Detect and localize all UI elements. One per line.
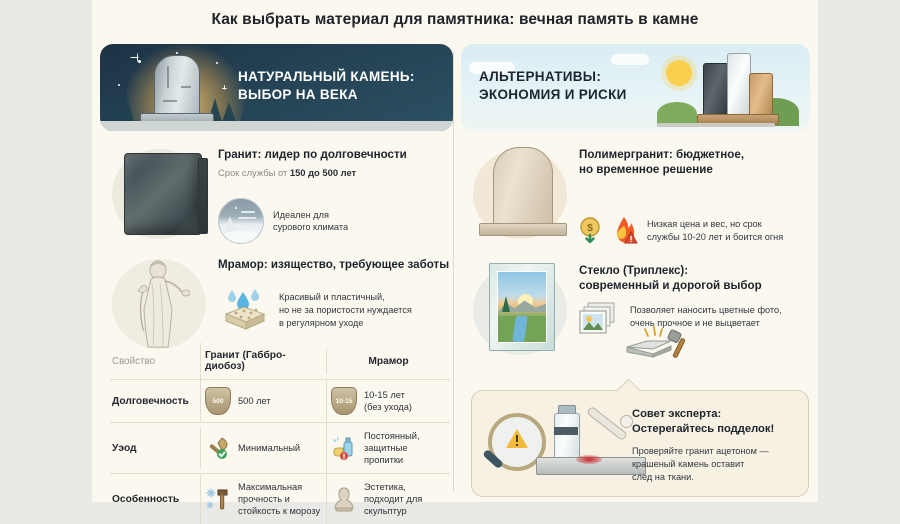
cell-value: Эстетика, подходит для скульптур: [364, 481, 422, 517]
expert-tip-box: Совет эксперта: Остерегайтесь подделок! …: [471, 390, 809, 497]
banner-title-line1: НАТУРАЛЬНЫЙ КАМЕНЬ:: [238, 69, 415, 84]
polymer-note: $ Низкая цена и вес: [579, 216, 811, 246]
monument-slab-light: [727, 53, 751, 117]
bust-sculpture-icon: [331, 486, 357, 512]
row-marble-cell: 10-15 10-15 лет (без ухода): [326, 380, 450, 422]
star-icon: [176, 52, 178, 54]
star-icon: [118, 84, 120, 86]
bottle-label: [554, 427, 578, 435]
table-row: Уэод Минимальный: [110, 422, 450, 473]
landscape-photo: [497, 271, 547, 343]
glass-photo-panel-icon: [489, 263, 555, 351]
granite-lifespan: Срок службы от 150 до 500 лет: [218, 167, 450, 178]
star-icon: [216, 62, 218, 64]
pine-tree-icon: [222, 102, 236, 122]
acetone-bottle-swab-icon: [554, 413, 580, 461]
row-granite-cell: Максимальная прочность и стойкость к мор…: [200, 474, 326, 524]
cell-value: 500 лет: [238, 395, 271, 407]
table-header-row: Свойство Гранит (Габбро-диобоз) Мрамор: [110, 343, 450, 379]
svg-text:$: $: [587, 223, 593, 234]
marble-statue-icon: [132, 257, 190, 349]
row-marble-cell: Эстетика, подходит для скульптур: [326, 474, 450, 524]
lifespan-prefix: Срок службы от: [218, 167, 290, 178]
alternatives-banner: АЛЬТЕРНАТИВЫ: ЭКОНОМИЯ И РИСКИ: [461, 44, 810, 131]
brush-check-icon: [205, 435, 231, 461]
cell-value: Максимальная прочность и стойкость к мор…: [238, 481, 320, 517]
polymer-note-text: Низкая цена и вес, но срок службы 10-20 …: [647, 218, 783, 243]
monument-slab-brown: [749, 73, 773, 117]
marble-heading: Мрамор: изящество, требующее заботы: [218, 257, 450, 272]
table-row: Долговечность 500 500 лет 10-15 10-15 ле…: [110, 379, 450, 422]
polymer-text: Полимергранит: бюджетное, но временное р…: [579, 147, 811, 246]
row-label: Долговечность: [110, 389, 200, 414]
water-drops-porous-slab-icon: [218, 286, 270, 330]
table-header-property: Свойство: [110, 349, 200, 374]
pine-tree-icon: [106, 102, 120, 122]
glass-heading: Стекло (Триплекс): современный и дорогой…: [579, 263, 811, 294]
alternatives-banner-title: АЛЬТЕРНАТИВЫ: ЭКОНОМИЯ И РИСКИ: [479, 68, 627, 104]
row-granite-cell: 500 500 лет: [200, 380, 326, 422]
marble-care-text: Красивый и пластичный, но не за пористос…: [279, 291, 412, 329]
tip-pointer: [616, 378, 640, 402]
ground-strip: [100, 121, 453, 131]
table-row: Особенность: [110, 473, 450, 524]
banner-title-line2: ЭКОНОМИЯ И РИСКИ: [479, 87, 627, 102]
ground-line: [657, 123, 775, 127]
polymer-thumb: [471, 143, 571, 243]
right-column: АЛЬТЕРНАТИВЫ: ЭКОНОМИЯ И РИСКИ Полимергр…: [461, 44, 810, 499]
row-marble-cell: Постоянный, защитные пропитки: [326, 423, 450, 473]
column-divider: [453, 52, 454, 492]
natural-stone-banner-title: НАТУРАЛЬНЫЙ КАМЕНЬ: ВЫБОР НА ВЕКА: [238, 68, 415, 104]
table-header-granite: Гранит (Габбро-диобоз): [200, 343, 326, 379]
marble-feature: Мрамор: изящество, требующее заботы: [100, 253, 453, 345]
natural-stone-banner: НАТУРАЛЬНЫЙ КАМЕНЬ: ВЫБОР НА ВЕКА: [100, 44, 453, 131]
granite-block-icon: [124, 153, 202, 235]
coin-down-fire-warning-icon: $: [579, 216, 605, 246]
granite-text: Гранит: лидер по долговечности Срок служ…: [218, 147, 450, 244]
left-column: НАТУРАЛЬНЫЙ КАМЕНЬ: ВЫБОР НА ВЕКА Гранит…: [100, 44, 453, 499]
glass-feature: Стекло (Триплекс): современный и дорогой…: [461, 259, 810, 357]
banner-title-line1: АЛЬТЕРНАТИВЫ:: [479, 69, 601, 84]
spray-sponge-icon: [331, 435, 357, 461]
shield-icon: 500: [205, 387, 231, 415]
tip-text: Проверяйте гранит ацетоном — крашеный ка…: [632, 445, 802, 484]
polymer-granite-monument-icon: [493, 147, 553, 227]
star-icon: [138, 60, 141, 63]
banner-title-line2: ВЫБОР НА ВЕКА: [238, 87, 358, 102]
glass-text: Стекло (Триплекс): современный и дорогой…: [579, 263, 811, 336]
polymer-granite-feature: Полимергранит: бюджетное, но временное р…: [461, 143, 810, 255]
granite-heading: Гранит: лидер по долговечности: [218, 147, 450, 162]
glass-thumb: [471, 259, 571, 359]
marble-thumb: [110, 253, 210, 353]
marble-text: Мрамор: изящество, требующее заботы: [218, 257, 450, 330]
marble-care-note: Красивый и пластичный, но не за пористос…: [218, 286, 450, 330]
cell-value: Постоянный, защитные пропитки: [364, 430, 420, 466]
pine-tree-icon: [120, 96, 134, 122]
granite-climate-text: Идеален для сурового климата: [273, 209, 348, 234]
winter-climate-icon: [218, 198, 264, 244]
hammer-snowflake-icon: [205, 486, 231, 512]
monument-base: [479, 223, 567, 236]
granite-thumb: [110, 143, 210, 243]
shield-icon: 10-15: [331, 387, 357, 415]
row-label: Особенность: [110, 487, 200, 512]
hammer-strike-icon: [625, 325, 699, 368]
page-title: Как выбрать материал для памятника: вечн…: [92, 11, 818, 29]
comparison-table: Свойство Гранит (Габбро-диобоз) Мрамор Д…: [110, 343, 450, 524]
tip-heading: Совет эксперта: Остерегайтесь подделок!: [632, 407, 798, 437]
table-header-marble: Мрамор: [326, 349, 450, 374]
lifespan-value: 150 до 500 лет: [290, 167, 356, 178]
red-stain: [576, 455, 602, 464]
monument-slab-dark: [703, 63, 729, 117]
cell-value: 10-15 лет (без ухода): [364, 389, 412, 413]
row-label: Уэод: [110, 436, 200, 461]
granite-feature: Гранит: лидер по долговечности Срок служ…: [100, 143, 453, 247]
fire-warning-icon: [612, 216, 638, 246]
color-photos-icon: [579, 302, 621, 336]
cell-value: Минимальный: [238, 442, 300, 454]
polymer-heading: Полимергранит: бюджетное, но временное р…: [579, 147, 811, 178]
sun-icon: [666, 60, 692, 86]
row-granite-cell: Минимальный: [200, 428, 326, 468]
infographic-page: Как выбрать материал для памятника: вечн…: [0, 0, 900, 502]
infographic-card: Как выбрать материал для памятника: вечн…: [92, 0, 818, 502]
cloud-icon: [611, 54, 649, 65]
granite-climate-note: Идеален для сурового климата: [218, 198, 450, 244]
